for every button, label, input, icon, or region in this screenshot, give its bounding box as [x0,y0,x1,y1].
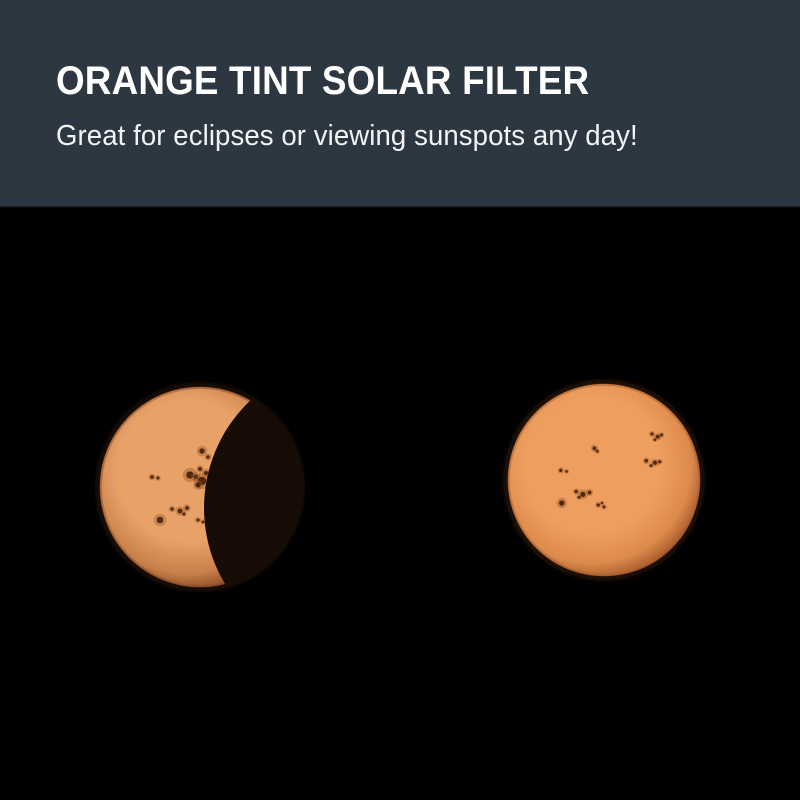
sunspot [597,503,600,506]
sunspot [574,490,577,493]
sunspot [596,450,599,453]
left-image-alt: Partially eclipsed sun photographed thro… [0,208,1,209]
sunspot [653,461,657,465]
sunspot [185,506,189,510]
sunspot [565,470,568,473]
sunspot [650,464,653,467]
sunspot [195,482,200,487]
sunspot [170,507,173,510]
sunspot [247,444,250,447]
sunspot [650,432,653,435]
full-sun-disc-group [508,384,700,576]
sunspot [202,521,205,524]
header-band: ORANGE TINT SOLAR FILTER Great for eclip… [0,0,800,208]
sunspot [199,448,204,453]
sunspot [601,502,603,504]
sunspot [150,475,154,479]
right-image-alt: Full solar disc with sunspots photograph… [0,208,1,209]
full-sun-figure [482,358,726,602]
eclipsed-sun-figure [74,361,326,613]
sunspot [578,496,581,499]
sunspot [660,433,663,436]
sunspot [157,517,163,523]
product-banner: ORANGE TINT SOLAR FILTER Great for eclip… [0,0,800,800]
sunspot [644,459,648,463]
sunspot [196,518,199,521]
sunspot [198,467,202,471]
sunspot [654,438,657,441]
sunspot [206,455,210,459]
sunspot [157,477,160,480]
solar-photo-stage: Partially eclipsed sun photographed thro… [0,208,800,800]
page-title: ORANGE TINT SOLAR FILTER [56,60,589,102]
page-subtitle: Great for eclipses or viewing sunspots a… [56,119,638,153]
sunspot [183,513,186,516]
sunspot [559,500,564,505]
sunspot [603,505,606,508]
eclipsed-sun-disc-group [100,387,300,587]
sunspot [241,439,244,442]
sunspot [658,460,661,463]
sunspot [206,484,209,487]
full-sun-image [482,358,726,602]
sunspot [588,491,592,495]
sunspot [559,469,562,472]
eclipsed-sun-image [74,361,326,613]
sunspot [204,471,208,475]
